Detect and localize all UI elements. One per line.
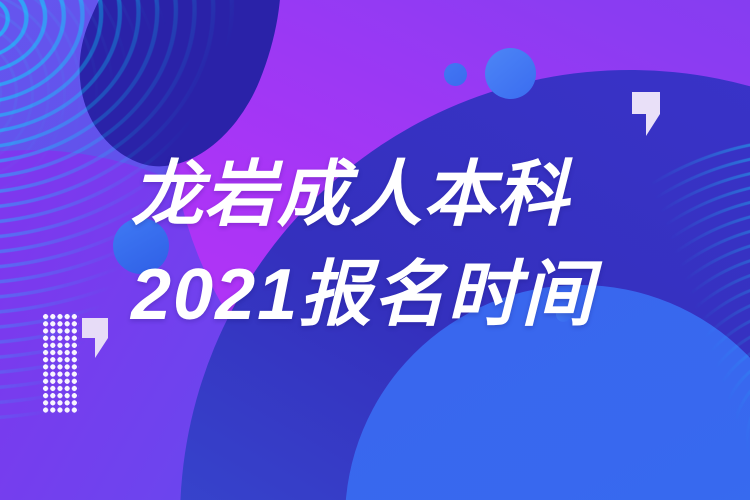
dot-grid-pattern — [42, 313, 79, 413]
decorative-circle-small-top — [444, 63, 467, 86]
headline-line-1: 龙岩成人本科 — [131, 145, 661, 245]
quote-mark-icon-left — [82, 318, 108, 358]
quote-mark-icon-right — [632, 92, 660, 136]
headline: 龙岩成人本科 2021报名时间 — [131, 145, 661, 345]
headline-line-2: 2021报名时间 — [131, 245, 661, 345]
decorative-circle-large-top — [485, 48, 536, 99]
promo-banner: 龙岩成人本科 2021报名时间 — [0, 0, 750, 500]
